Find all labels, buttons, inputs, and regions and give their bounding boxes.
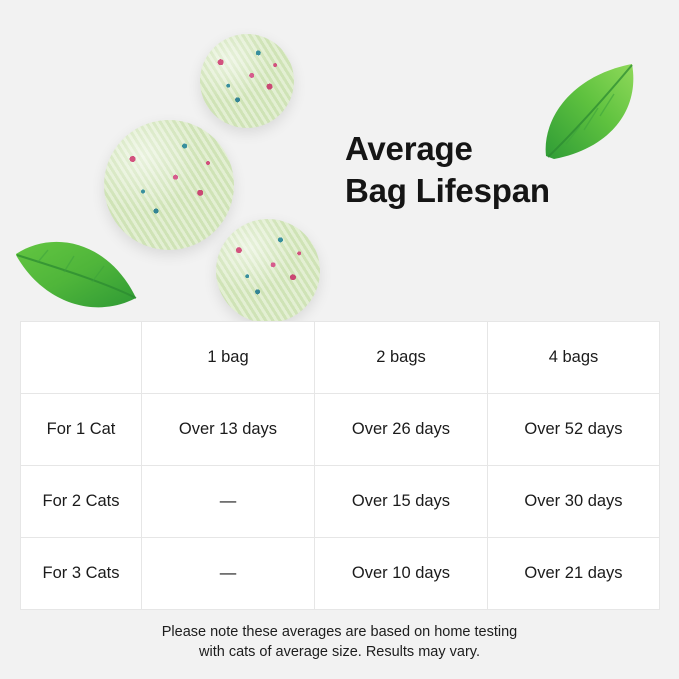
table-cell: Over 15 days — [315, 466, 488, 538]
table-cell: Over 30 days — [488, 466, 660, 538]
page-title-line-1: Average — [345, 128, 645, 170]
table-row-label-1-cat: For 1 Cat — [21, 394, 142, 466]
page-title: Average Bag Lifespan — [345, 128, 645, 212]
table-cell: — — [142, 466, 315, 538]
table-row: For 1 Cat Over 13 days Over 26 days Over… — [21, 394, 660, 466]
table-cell: — — [142, 538, 315, 610]
table-column-header-4-bags: 4 bags — [488, 322, 660, 394]
lifespan-table: 1 bag 2 bags 4 bags For 1 Cat Over 13 da… — [20, 321, 660, 610]
leaf-icon — [12, 224, 142, 324]
table-cell: Over 26 days — [315, 394, 488, 466]
table-corner-cell — [21, 322, 142, 394]
footnote-line-1: Please note these averages are based on … — [0, 622, 679, 642]
table-cell: Over 10 days — [315, 538, 488, 610]
footnote: Please note these averages are based on … — [0, 622, 679, 662]
table-column-header-2-bags: 2 bags — [315, 322, 488, 394]
table-header-row: 1 bag 2 bags 4 bags — [21, 322, 660, 394]
footnote-line-2: with cats of average size. Results may v… — [0, 642, 679, 662]
table-cell: Over 13 days — [142, 394, 315, 466]
table-row-label-2-cats: For 2 Cats — [21, 466, 142, 538]
table-row: For 2 Cats — Over 15 days Over 30 days — [21, 466, 660, 538]
litter-clump-icon — [216, 219, 320, 323]
table-row: For 3 Cats — Over 10 days Over 21 days — [21, 538, 660, 610]
page-title-line-2: Bag Lifespan — [345, 170, 645, 212]
table-row-label-3-cats: For 3 Cats — [21, 538, 142, 610]
litter-clump-icon — [200, 34, 294, 128]
table-column-header-1-bag: 1 bag — [142, 322, 315, 394]
table-cell: Over 21 days — [488, 538, 660, 610]
table-cell: Over 52 days — [488, 394, 660, 466]
